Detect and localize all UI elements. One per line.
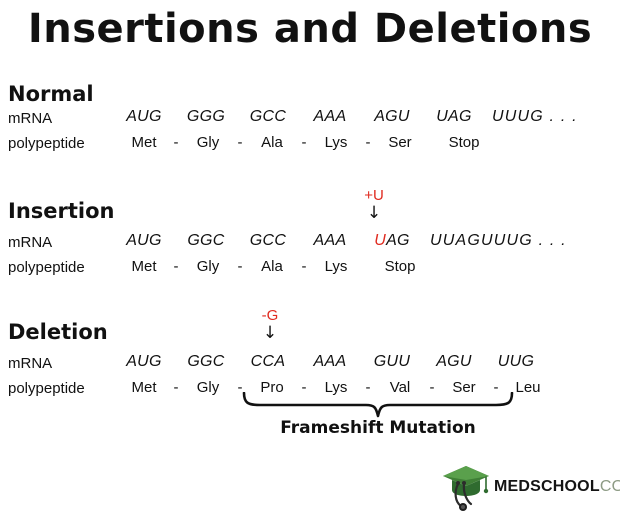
logo-text-coach: COACH [600,478,620,495]
graduation-cap-stethoscope-icon [440,462,492,512]
amino-acid: Gly [182,134,234,151]
codon: CCA [242,353,294,371]
mrna-sequence-insertion: AUG GGC GCC AAA UAG UUAGUUUG . . . [118,232,567,250]
polypeptide-sequence-insertion: Met - Gly - Ala - Lys Stop [118,258,426,275]
row-label-polypeptide-insertion: polypeptide [8,259,85,276]
row-label-mrna-normal: mRNA [8,110,52,127]
inserted-base: U [374,232,386,249]
mrna-sequence-normal: AUG GGG GCC AAA AGU UAG UUUG . . . [118,108,578,126]
insertion-marker: +U ↓ [344,188,404,222]
page-title: Insertions and Deletions [0,6,620,52]
codon-mutated: UAG [366,232,418,250]
peptide-bond-dash: - [234,134,246,151]
frameshift-mutation-label: Frameshift Mutation [240,418,516,438]
codon: GCC [242,232,294,250]
section-heading-deletion: Deletion [8,320,108,344]
stop-codon-label: Stop [374,258,426,275]
codon: GUU [366,353,418,371]
amino-acid: Gly [182,258,234,275]
medschoolcoach-logo[interactable]: MEDSCHOOLCOACH [440,462,615,512]
codon: GCC [242,108,294,126]
amino-acid: Lys [310,134,362,151]
deletion-label: -G [240,308,300,323]
codon: GGC [180,353,232,371]
codon: AUG [118,232,170,250]
sequence-tail: UUAGUUUG . . . [428,232,567,250]
peptide-bond-dash: - [298,258,310,275]
codon: AUG [118,353,170,371]
amino-acid: Ala [246,134,298,151]
sequence-tail: UUUG . . . [490,108,578,126]
peptide-bond-dash: - [170,379,182,396]
polypeptide-sequence-normal: Met - Gly - Ala - Lys - Ser Stop [118,134,490,151]
logo-wordmark: MEDSCHOOLCOACH [494,478,620,496]
stop-codon-label: Stop [438,134,490,151]
peptide-bond-dash: - [362,134,374,151]
row-label-mrna-deletion: mRNA [8,355,52,372]
row-label-mrna-insertion: mRNA [8,234,52,251]
down-arrow-icon: ↓ [344,205,404,222]
codon: AAA [304,108,356,126]
section-heading-insertion: Insertion [8,199,114,223]
amino-acid: Lys [310,258,362,275]
mrna-sequence-deletion: AUG GGC CCA AAA GUU AGU UUG [118,353,542,371]
codon: GGG [180,108,232,126]
amino-acid: Ala [246,258,298,275]
codon: AAA [304,353,356,371]
amino-acid: Met [118,258,170,275]
codon: AUG [118,108,170,126]
frameshift-brace [240,392,516,418]
peptide-bond-dash: - [234,258,246,275]
amino-acid: Ser [374,134,426,151]
amino-acid: Met [118,379,170,396]
codon-remainder: AG [386,232,410,249]
amino-acid: Gly [182,379,234,396]
codon: AGU [428,353,480,371]
codon: AGU [366,108,418,126]
logo-text-medschool: MEDSCHOOL [494,478,600,495]
codon: UAG [428,108,480,126]
codon: UUG [490,353,542,371]
peptide-bond-dash: - [298,134,310,151]
down-arrow-icon: ↓ [240,325,300,342]
deletion-marker: -G ↓ [240,308,300,342]
row-label-polypeptide-normal: polypeptide [8,135,85,152]
codon: GGC [180,232,232,250]
row-label-polypeptide-deletion: polypeptide [8,380,85,397]
section-heading-normal: Normal [8,82,94,106]
peptide-bond-dash: - [170,258,182,275]
peptide-bond-dash: - [170,134,182,151]
amino-acid: Met [118,134,170,151]
insertion-label: +U [344,188,404,203]
codon: AAA [304,232,356,250]
